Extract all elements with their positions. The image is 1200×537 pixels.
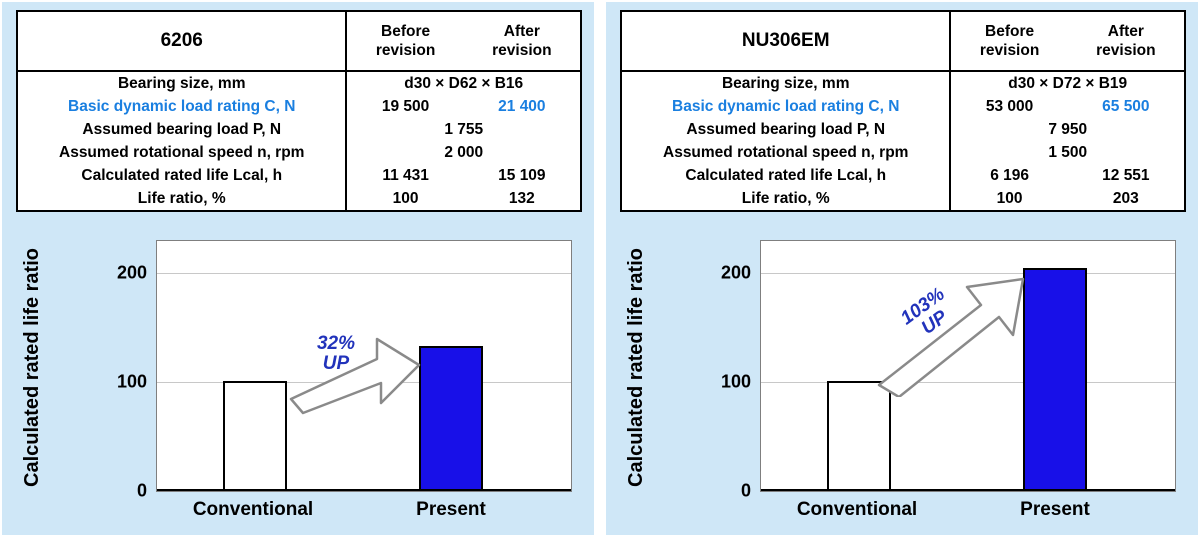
x-tick-present: Present (951, 499, 1159, 521)
row-label: Calculated rated life Lcal, h (622, 164, 950, 187)
x-axis-line (761, 489, 1175, 491)
row-value-after: 203 (1068, 187, 1184, 210)
y-axis-label-text: Calculated rated life ratio (21, 248, 44, 487)
x-tick-conventional: Conventional (149, 499, 357, 521)
column-header-before: Beforerevision (950, 12, 1067, 71)
y-axis-label: Calculated rated life ratio (18, 238, 46, 496)
row-label: Bearing size, mm (18, 71, 346, 95)
y-tick-200: 200 (117, 263, 157, 284)
x-axis-line (157, 489, 571, 491)
plot-area: 200 100 0 32% UP Conventional Present (156, 240, 572, 492)
table-row: Bearing size, mm d30 × D72 × B19 (622, 71, 1184, 95)
spec-table-right: NU306EM Beforerevision Afterrevision Bea… (620, 10, 1186, 212)
row-label: Assumed bearing load P, N (622, 118, 950, 141)
plot-area: 200 100 0 103% UP Conventional Present (760, 240, 1176, 492)
table-header-row: NU306EM Beforerevision Afterrevision (622, 12, 1184, 71)
gridline-100 (157, 382, 571, 383)
table-row: Basic dynamic load rating C, N 19 500 21… (18, 95, 580, 118)
table-row: Assumed rotational speed n, rpm 1 500 (622, 141, 1184, 164)
spec-table-left: 6206 Beforerevision Afterrevision Bearin… (16, 10, 582, 212)
y-axis-label-text: Calculated rated life ratio (625, 248, 648, 487)
gridline-200 (761, 273, 1175, 274)
table-row: Assumed bearing load P, N 1 755 (18, 118, 580, 141)
row-value-before: 100 (346, 187, 463, 210)
column-header-before: Beforerevision (346, 12, 463, 71)
bar-chart-left: Calculated rated life ratio 200 100 0 32… (16, 238, 582, 528)
spec-table: 6206 Beforerevision Afterrevision Bearin… (18, 12, 580, 210)
row-value-before: 19 500 (346, 95, 463, 118)
bar-conventional (827, 381, 891, 491)
row-label: Life ratio, % (622, 187, 950, 210)
spec-table: NU306EM Beforerevision Afterrevision Bea… (622, 12, 1184, 210)
annotation-up-percent: 32% UP (293, 334, 379, 374)
row-value-merged: 7 950 (950, 118, 1184, 141)
row-label: Calculated rated life Lcal, h (18, 164, 346, 187)
table-row: Bearing size, mm d30 × D62 × B16 (18, 71, 580, 95)
row-value-before: 11 431 (346, 164, 463, 187)
row-value-after: 12 551 (1068, 164, 1184, 187)
row-value-merged: 2 000 (346, 141, 580, 164)
x-tick-conventional: Conventional (753, 499, 961, 521)
row-value-before: 100 (950, 187, 1067, 210)
panel-right: NU306EM Beforerevision Afterrevision Bea… (604, 0, 1200, 537)
table-row: Calculated rated life Lcal, h 11 431 15 … (18, 164, 580, 187)
row-label: Life ratio, % (18, 187, 346, 210)
bar-conventional (223, 381, 287, 491)
column-header-after: Afterrevision (464, 12, 580, 71)
row-value-after: 65 500 (1068, 95, 1184, 118)
row-value-before: 53 000 (950, 95, 1067, 118)
y-tick-100: 100 (721, 372, 761, 393)
annotation-line1: 32% (293, 334, 379, 354)
table-row: Basic dynamic load rating C, N 53 000 65… (622, 95, 1184, 118)
row-value-merged: 1 755 (346, 118, 580, 141)
table-title: NU306EM (622, 12, 950, 71)
row-label: Assumed bearing load P, N (18, 118, 346, 141)
gridline-100 (761, 382, 1175, 383)
row-value-after: 21 400 (464, 95, 580, 118)
column-header-after: Afterrevision (1068, 12, 1184, 71)
row-label: Assumed rotational speed n, rpm (622, 141, 950, 164)
table-row: Calculated rated life Lcal, h 6 196 12 5… (622, 164, 1184, 187)
table-row: Life ratio, % 100 203 (622, 187, 1184, 210)
annotation-up-percent: 103% UP (877, 269, 981, 360)
figure-root: 6206 Beforerevision Afterrevision Bearin… (0, 0, 1200, 537)
row-value-merged: d30 × D72 × B19 (950, 71, 1184, 95)
bar-present (419, 346, 483, 491)
bar-present (1023, 268, 1087, 491)
row-value-before: 6 196 (950, 164, 1067, 187)
gridline-200 (157, 273, 571, 274)
row-label: Basic dynamic load rating C, N (622, 95, 950, 118)
table-title: 6206 (18, 12, 346, 71)
y-tick-100: 100 (117, 372, 157, 393)
annotation-line2: UP (293, 354, 379, 374)
y-tick-200: 200 (721, 263, 761, 284)
bar-chart-right: Calculated rated life ratio 200 100 0 10… (620, 238, 1186, 528)
x-tick-present: Present (347, 499, 555, 521)
row-value-merged: 1 500 (950, 141, 1184, 164)
row-label: Assumed rotational speed n, rpm (18, 141, 346, 164)
table-header-row: 6206 Beforerevision Afterrevision (18, 12, 580, 71)
row-value-after: 15 109 (464, 164, 580, 187)
table-row: Assumed rotational speed n, rpm 2 000 (18, 141, 580, 164)
panel-left: 6206 Beforerevision Afterrevision Bearin… (0, 0, 596, 537)
table-row: Life ratio, % 100 132 (18, 187, 580, 210)
y-axis-label: Calculated rated life ratio (622, 238, 650, 496)
row-label: Bearing size, mm (622, 71, 950, 95)
row-label: Basic dynamic load rating C, N (18, 95, 346, 118)
table-row: Assumed bearing load P, N 7 950 (622, 118, 1184, 141)
row-value-after: 132 (464, 187, 580, 210)
row-value-merged: d30 × D62 × B16 (346, 71, 580, 95)
